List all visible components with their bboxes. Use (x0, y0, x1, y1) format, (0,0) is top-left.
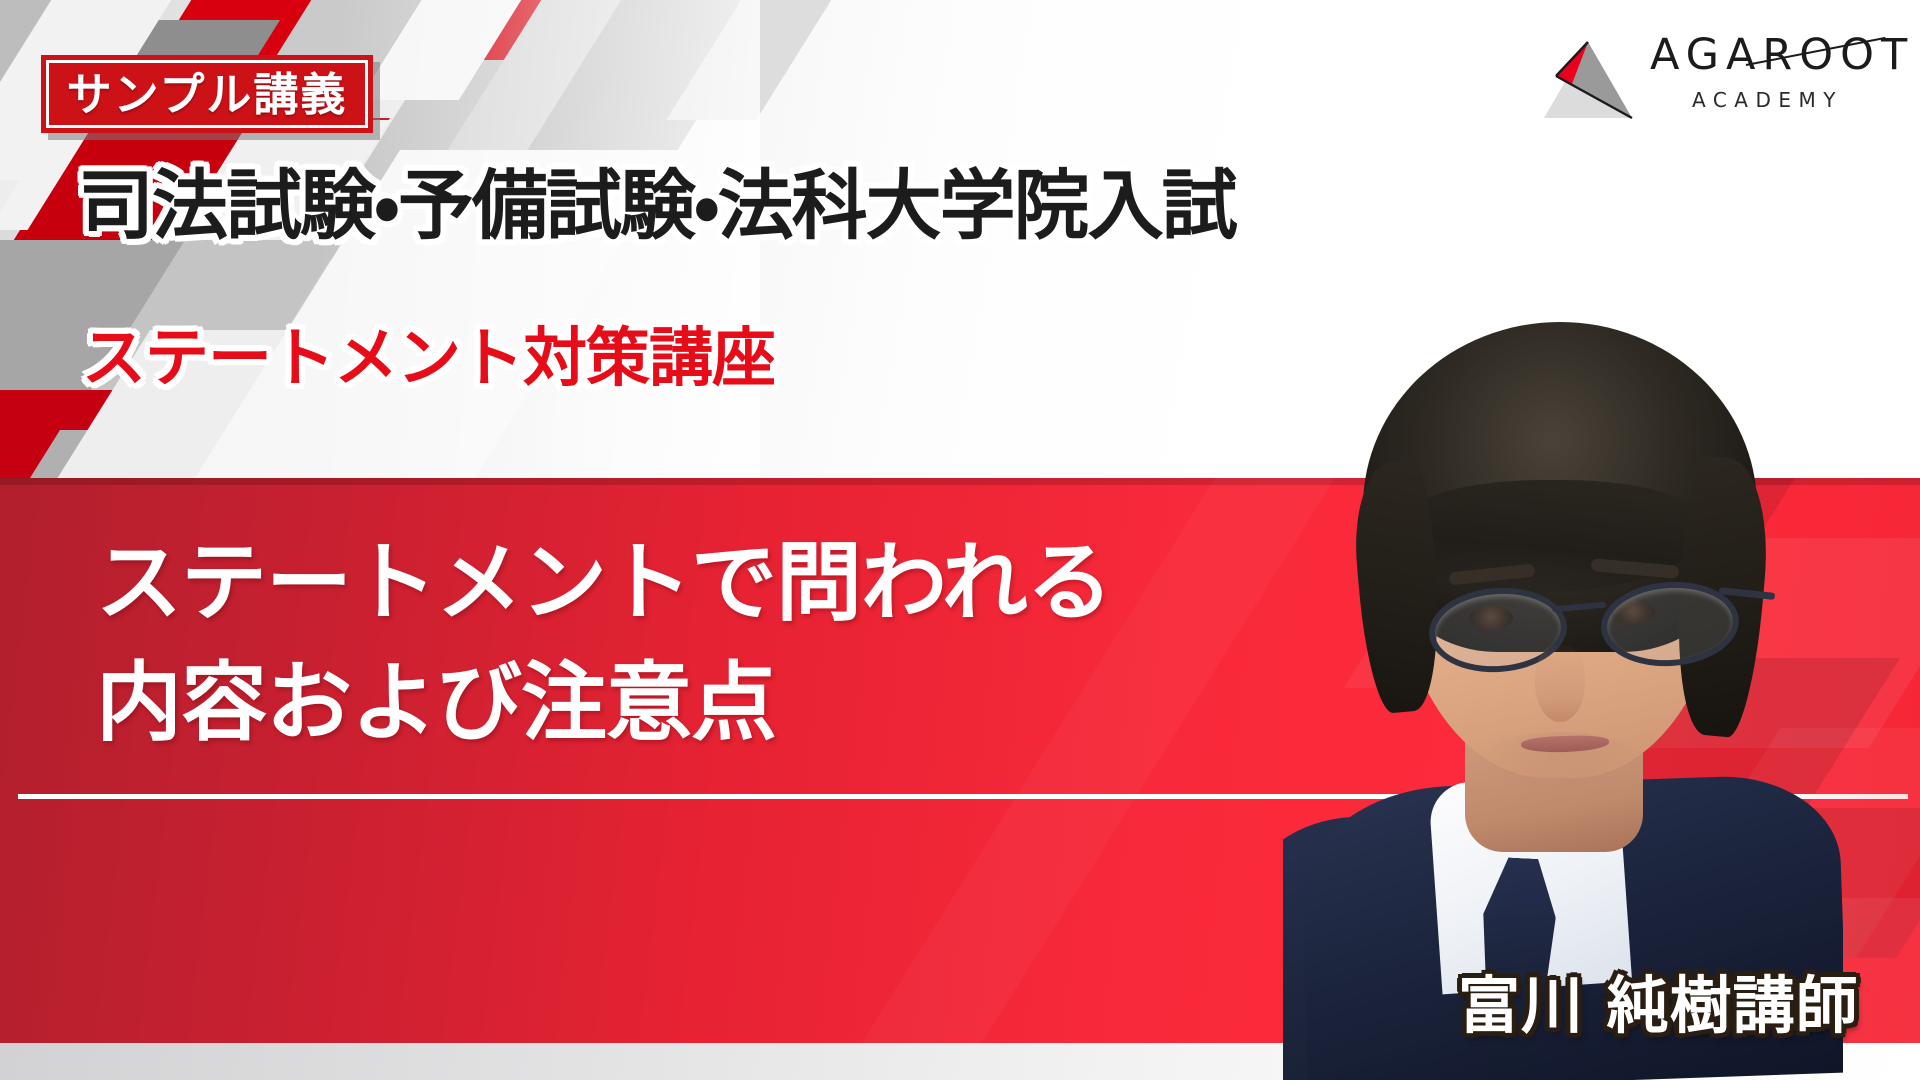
course-title: ステートメント対策講座 (82, 327, 775, 391)
exam-title: 司法試験・予備試験・法科大学院入試 (78, 168, 1236, 244)
agaroot-academy-logo: AGAROOT ACADEMY (1542, 32, 1882, 124)
agaroot-wordmark: AGAROOT ACADEMY (1650, 34, 1882, 122)
logo-word-academy: ACADEMY (1692, 90, 1843, 110)
slide-canvas: サンプル講義 AGAROOT ACADEMY 司法試験・予備試験・法科大学院入試… (0, 0, 1920, 1080)
instructor-name: 富川 純樹講師 (1458, 975, 1859, 1037)
agaroot-triangle-mark-icon (1542, 40, 1634, 120)
photo-glasses-icon (1429, 580, 1729, 664)
headline-line-2: 内容および注意点 (96, 660, 776, 746)
headline-line-1: ステートメントで問われる (96, 540, 1112, 626)
sample-lecture-badge: サンプル講義 (41, 55, 373, 133)
photo-nose (1535, 644, 1585, 722)
sample-lecture-badge-label: サンプル講義 (67, 72, 348, 117)
photo-glasses-bridge (1552, 602, 1606, 613)
instructor-photo (1283, 262, 1843, 1080)
